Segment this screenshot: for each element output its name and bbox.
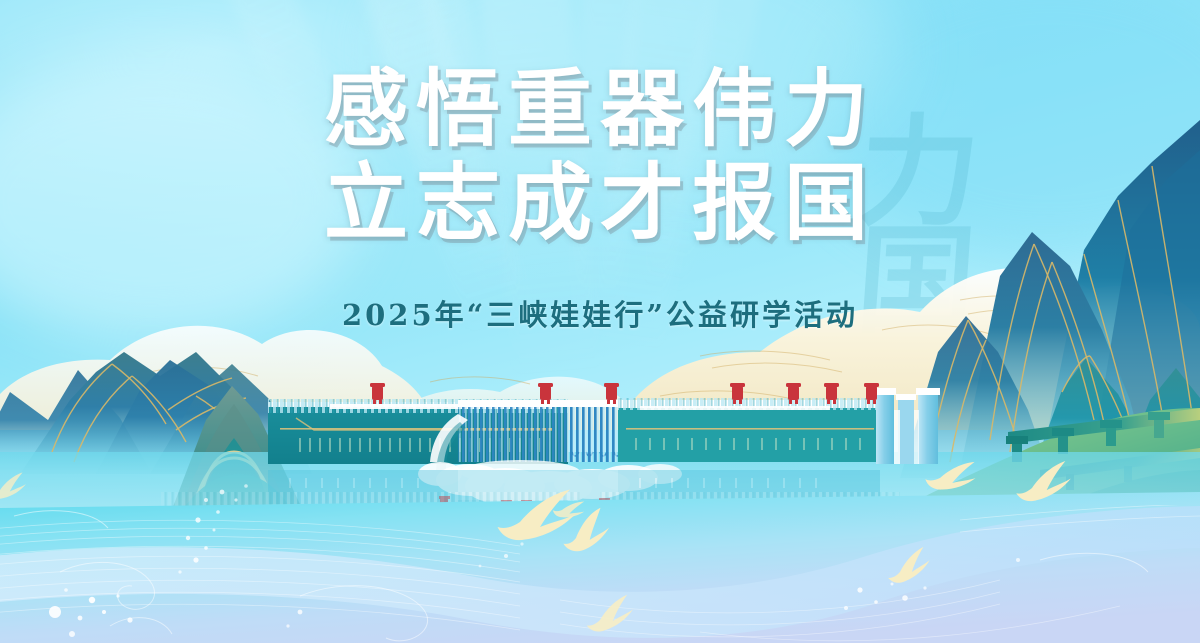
subtitle: 2025年“三峡娃娃行”公益研学活动 (0, 292, 1200, 334)
bird-icon (583, 594, 636, 634)
bird-icon (1013, 461, 1072, 503)
title-line-1: 感悟重器伟力 (0, 62, 1200, 156)
title-block: 感悟重器伟力 立志成才报国 (0, 62, 1200, 250)
title-line-2: 立志成才报国 (0, 156, 1200, 250)
poster-canvas: 力 国 (0, 0, 1200, 643)
bird-icon (0, 472, 27, 499)
bird-icon (924, 455, 978, 494)
bird-icon (883, 546, 933, 585)
